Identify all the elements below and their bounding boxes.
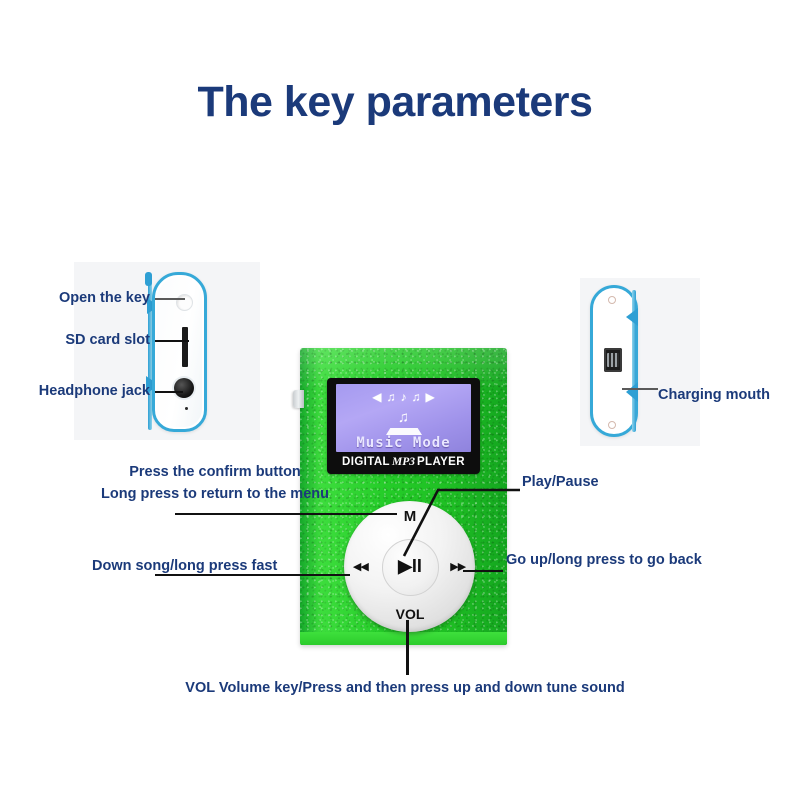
charging-port-contacts-icon: [607, 353, 619, 367]
leader-volume: [406, 620, 409, 675]
lcd-icon-next-arrow: ▶: [426, 391, 435, 403]
leader-sd-card-slot: [155, 340, 189, 342]
lcd-icon-prev-arrow: ◀: [372, 391, 381, 403]
brand-mark: MP3: [390, 456, 417, 468]
callout-go-up: Go up/long press to go back: [506, 550, 702, 570]
open-the-key-hole-icon: [176, 294, 193, 311]
side-button[interactable]: [293, 390, 304, 408]
callout-confirm-line2: Long press to return to the menu: [65, 484, 365, 504]
brand-suffix: PLAYER: [417, 456, 465, 468]
belt-clip-right-icon: [628, 286, 644, 436]
screw-bottom-icon: [608, 421, 616, 429]
volume-button-label[interactable]: VOL: [391, 607, 429, 621]
leader-confirm-button: [175, 513, 397, 515]
page-title: The key parameters: [0, 78, 790, 127]
lcd-status-icons: ◀ ♫ ♪ ♫ ▶: [336, 389, 471, 404]
leader-charging-mouth: [622, 388, 658, 390]
lcd-icon-note-3: ♫: [412, 391, 421, 403]
lcd-screen: ◀ ♫ ♪ ♫ ▶ ♫ Music Mode: [336, 384, 471, 452]
callout-open-the-key: Open the key: [20, 288, 150, 308]
leader-down-song: [155, 574, 350, 576]
leader-open-the-key: [155, 298, 185, 300]
callout-charging-mouth: Charging mouth: [658, 385, 770, 405]
lcd-icon-note-1: ♫: [387, 391, 396, 403]
callout-down-song: Down song/long press fast: [92, 556, 277, 576]
reset-pinhole-icon: [185, 407, 188, 410]
leader-go-up: [463, 570, 503, 572]
lcd-icon-note-2: ♪: [401, 391, 407, 403]
infographic-canvas: The key parameters Open the key SD card …: [0, 0, 790, 790]
menu-button-label[interactable]: M: [397, 509, 423, 524]
headphone-jack-icon: [174, 378, 194, 398]
callout-confirm-line1: Press the confirm button: [65, 462, 365, 482]
previous-button-label[interactable]: ◂◂: [348, 559, 374, 574]
play-pause-icon[interactable]: ▶II: [389, 557, 431, 575]
callout-sd-card-slot: SD card slot: [20, 330, 150, 350]
callout-volume: VOL Volume key/Press and then press up a…: [140, 678, 670, 698]
lcd-pedestal-icon: [386, 428, 422, 435]
sd-card-slot-icon: [182, 327, 188, 367]
callout-headphone-jack: Headphone jack: [8, 381, 150, 401]
callout-play-pause: Play/Pause: [522, 472, 599, 492]
lcd-mode-text: Music Mode: [336, 435, 471, 451]
leader-headphone-jack: [155, 391, 183, 393]
lcd-music-note-icon: ♫: [336, 410, 471, 425]
mp3-player-bottom-edge: [300, 632, 507, 645]
screw-top-icon: [608, 296, 616, 304]
